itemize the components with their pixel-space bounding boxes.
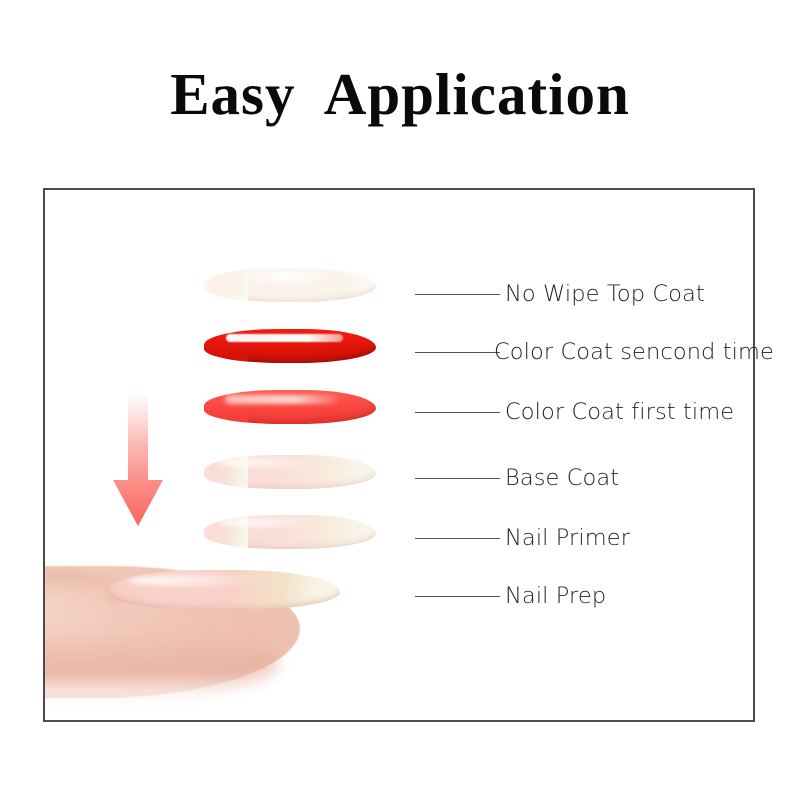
nail-color-coat-second — [204, 329, 376, 363]
nail-primer — [204, 515, 376, 549]
gloss-highlight — [218, 458, 318, 467]
nail-base-coat — [204, 455, 376, 489]
nail-color-coat-first — [204, 390, 376, 424]
leader-line-1 — [415, 294, 500, 295]
gloss-highlight — [226, 334, 343, 341]
step-label-base-coat: Base Coat — [505, 465, 619, 491]
page-title: Easy Application — [0, 64, 800, 126]
downward-gradient-arrow — [110, 392, 166, 528]
step-label-color-coat-second: Color Coat sencond time — [494, 339, 774, 365]
step-label-color-coat-first: Color Coat first time — [505, 399, 734, 425]
gloss-highlight — [232, 272, 339, 282]
gloss-highlight — [225, 395, 339, 403]
leader-line-3 — [415, 412, 500, 413]
gloss-highlight — [218, 518, 318, 527]
leader-line-4 — [415, 478, 500, 479]
leader-line-2 — [415, 352, 500, 353]
step-label-nail-prep: Nail Prep — [505, 583, 606, 609]
step-label-nail-primer: Nail Primer — [505, 525, 630, 551]
easy-application-graphic: Easy Application — [0, 0, 800, 800]
nail-no-wipe-top-coat — [204, 268, 376, 302]
step-label-no-wipe-top-coat: No Wipe Top Coat — [505, 281, 705, 307]
leader-line-5 — [415, 538, 500, 539]
leader-line-6 — [415, 596, 500, 597]
